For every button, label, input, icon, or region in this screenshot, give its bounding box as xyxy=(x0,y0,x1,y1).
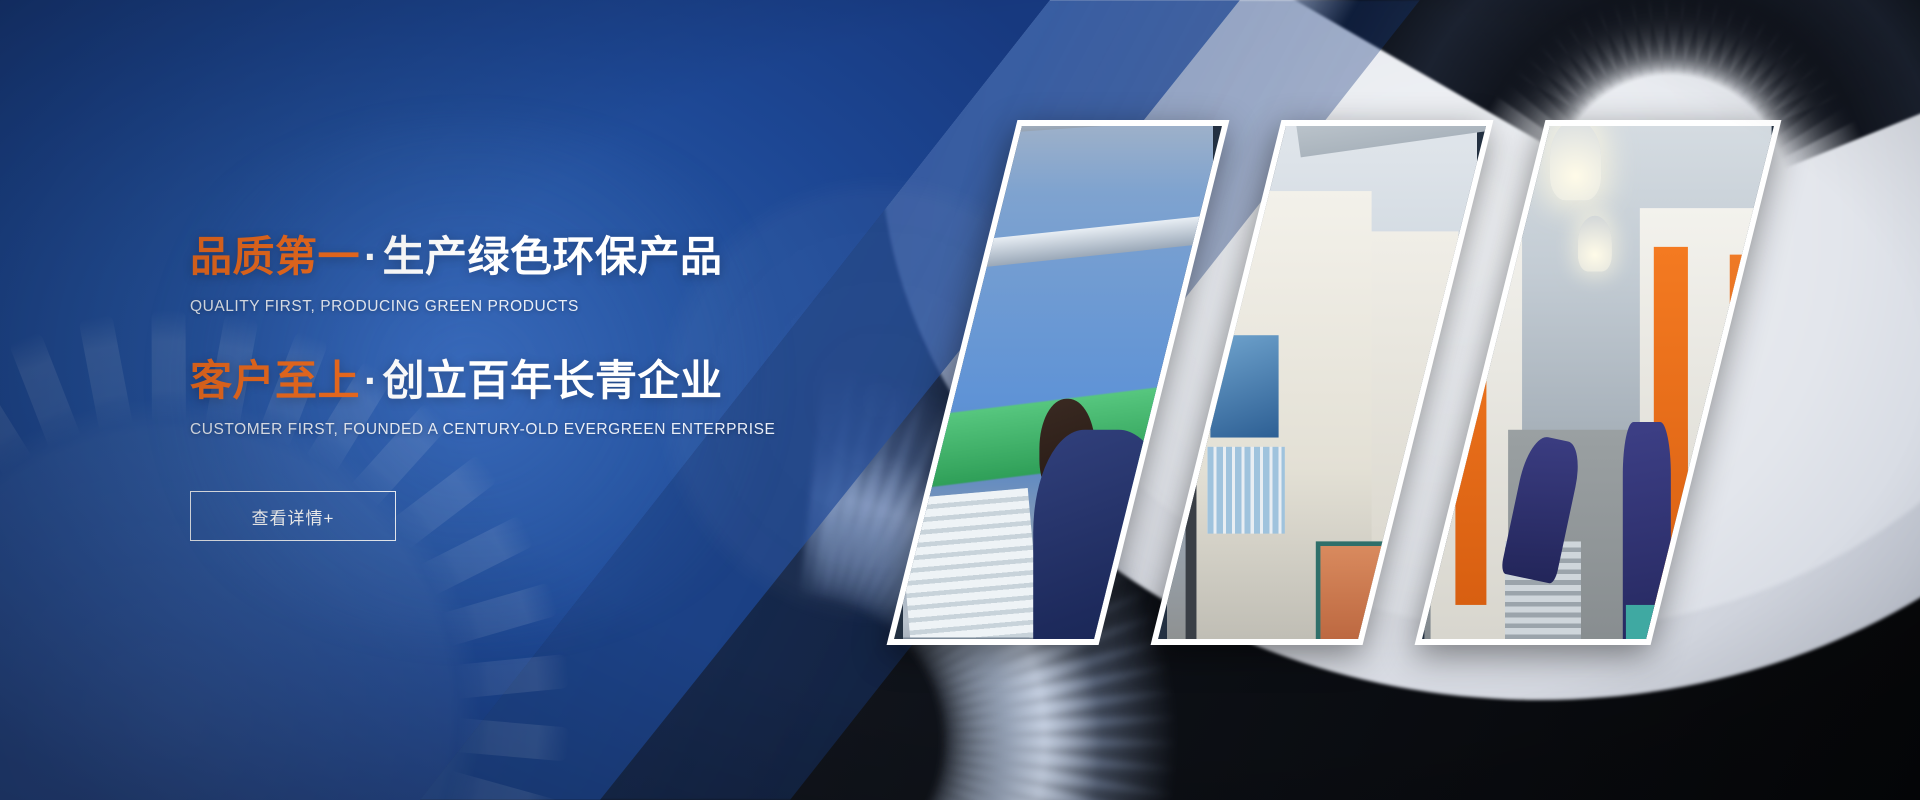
hero-copy: 品质第一·生产绿色环保产品 QUALITY FIRST, PRODUCING G… xyxy=(190,232,830,541)
headline-primary: 品质第一·生产绿色环保产品 xyxy=(190,232,830,282)
view-details-button[interactable]: 查看详情+ xyxy=(190,491,396,541)
headline-primary-separator: · xyxy=(360,233,383,280)
headline-secondary-accent: 客户至上 xyxy=(190,357,360,404)
headline-primary-accent: 品质第一 xyxy=(190,233,360,280)
cnc-machine-image xyxy=(1167,126,1477,639)
headline-secondary-rest: 创立百年长青企业 xyxy=(383,357,723,404)
headline-primary-rest: 生产绿色环保产品 xyxy=(383,233,723,280)
headline-secondary-separator: · xyxy=(360,357,383,404)
assembly-line-image xyxy=(903,126,1213,639)
headline-secondary: 客户至上·创立百年长青企业 xyxy=(190,356,830,406)
hero-banner: 品质第一·生产绿色环保产品 QUALITY FIRST, PRODUCING G… xyxy=(0,0,1920,800)
subtitle-primary: QUALITY FIRST, PRODUCING GREEN PRODUCTS xyxy=(190,298,830,316)
machining-floor-image xyxy=(1424,126,1771,639)
subtitle-secondary: CUSTOMER FIRST, FOUNDED A CENTURY-OLD EV… xyxy=(190,421,830,439)
